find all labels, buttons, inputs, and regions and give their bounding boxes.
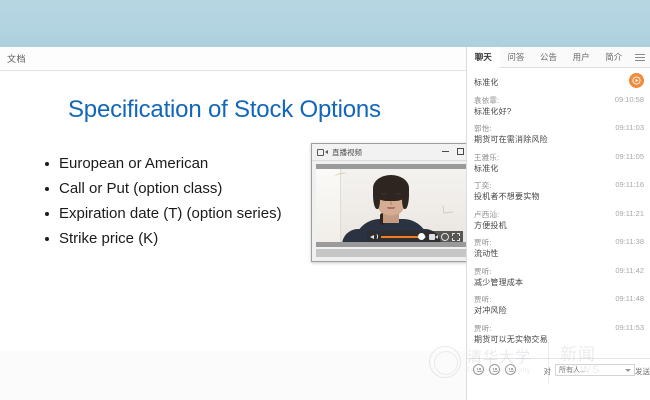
chat-message-list[interactable]: 标准化 袁依霏: 标准化好? 09:10:58 郭怡: 期货可在需消除风险 09…	[467, 68, 650, 358]
chat-message-time: 09:11:21	[615, 209, 644, 218]
maximize-icon[interactable]	[457, 148, 464, 155]
chat-message-text: 期货可在需消除风险	[474, 134, 644, 146]
chat-message: 贾听: 对冲风险 09:11:48	[474, 294, 644, 317]
chat-message: 袁依霏: 标准化好? 09:10:58	[474, 95, 644, 118]
gear-icon[interactable]	[441, 233, 449, 241]
tab-qa[interactable]: 问答	[500, 47, 533, 68]
emoji-picker-row[interactable]	[473, 364, 516, 375]
play-circle-icon[interactable]	[629, 73, 644, 88]
volume-slider[interactable]	[381, 236, 426, 238]
chat-message-time: 09:11:38	[615, 237, 644, 246]
camera-icon[interactable]	[429, 234, 438, 240]
chat-message: 卢西汕: 方便投机 09:11:21	[474, 209, 644, 232]
tab-chat[interactable]: 聊天	[467, 47, 500, 68]
chevron-down-icon	[625, 369, 631, 372]
recipient-select-value: 所有人...	[559, 367, 586, 374]
bullet-item: Call or Put (option class)	[42, 176, 282, 201]
smiley-icon[interactable]	[473, 364, 484, 375]
chat-message: 贾听: 流动性 09:11:38	[474, 237, 644, 260]
speaker-icon[interactable]	[370, 233, 378, 240]
chat-message-text: 期货可以无实物交易	[474, 334, 644, 346]
chat-message: 郭怡: 期货可在需消除风险 09:11:03	[474, 123, 644, 146]
video-window-titlebar[interactable]: 直播视频	[312, 144, 469, 161]
fullscreen-icon[interactable]	[452, 233, 460, 241]
chat-message-time: 09:11:03	[615, 123, 644, 132]
chat-message: 丁奕: 投机者不想要实物 09:11:16	[474, 180, 644, 203]
tab-intro[interactable]: 简介	[597, 47, 630, 68]
slide-bottom-strip	[0, 351, 466, 400]
chat-message-time: 09:11:53	[615, 323, 644, 332]
chat-message-text: 标准化	[474, 77, 644, 89]
chat-message-text: 减少管理成本	[474, 277, 644, 289]
slide-title: Specification of Stock Options	[68, 96, 381, 124]
chat-message-time: 09:11:05	[615, 152, 644, 161]
chat-message-time: 09:11:16	[615, 180, 644, 189]
chat-message: 王雅乐: 标准化 09:11:05	[474, 152, 644, 175]
chat-footer: 对 所有人... 发送	[467, 358, 650, 400]
chat-message-time: 09:11:42	[615, 266, 644, 275]
chat-message-partial: 标准化	[474, 77, 644, 89]
slide-bullet-list: European or American Call or Put (option…	[42, 151, 282, 251]
tab-announcement[interactable]: 公告	[532, 47, 565, 68]
bullet-item: European or American	[42, 151, 282, 176]
live-video-window[interactable]: 直播视频	[311, 143, 470, 262]
chat-message-text: 方便投机	[474, 220, 644, 232]
chat-message-text: 对冲风险	[474, 305, 644, 317]
video-bottom-strip	[316, 249, 467, 257]
video-window-title: 直播视频	[332, 147, 362, 158]
chat-message-time: 09:11:48	[615, 294, 644, 303]
chat-message-text: 标准化好?	[474, 106, 644, 118]
chat-message-text: 投机者不想要实物	[474, 191, 644, 203]
bullet-item: Expiration date (T) (option series)	[42, 201, 282, 226]
smiley-icon[interactable]	[489, 364, 500, 375]
chat-message-time: 09:10:58	[615, 95, 644, 104]
chat-scroll-cutoff	[474, 70, 644, 77]
tab-users[interactable]: 用户	[565, 47, 598, 68]
tab-document[interactable]: 文档	[7, 52, 26, 65]
bullet-item: Strike price (K)	[42, 226, 282, 251]
video-stage[interactable]	[316, 164, 467, 247]
smiley-icon[interactable]	[505, 364, 516, 375]
chat-message-text: 流动性	[474, 248, 644, 260]
chat-message-text: 标准化	[474, 163, 644, 175]
chat-message: 贾听: 期货可以无实物交易 09:11:53	[474, 323, 644, 346]
recipient-label: 对	[544, 366, 552, 377]
send-button[interactable]: 发送	[635, 366, 650, 377]
recipient-select[interactable]: 所有人...	[555, 364, 635, 376]
chat-panel: 聊天 问答 公告 用户 简介 标准化 袁依霏: 标准化好? 09:10:58 郭…	[466, 47, 650, 400]
minimize-icon[interactable]	[442, 151, 449, 152]
volume-slider-knob[interactable]	[418, 233, 425, 240]
chat-tab-bar: 聊天 问答 公告 用户 简介	[467, 47, 650, 68]
hamburger-menu-icon[interactable]	[630, 47, 650, 68]
video-camera-icon	[317, 149, 328, 156]
top-blue-band	[0, 0, 650, 47]
application-window: 文档 Specification of Stock Options Europe…	[0, 0, 650, 400]
chat-message: 贾听: 减少管理成本 09:11:42	[474, 266, 644, 289]
video-control-bar[interactable]	[367, 231, 463, 242]
